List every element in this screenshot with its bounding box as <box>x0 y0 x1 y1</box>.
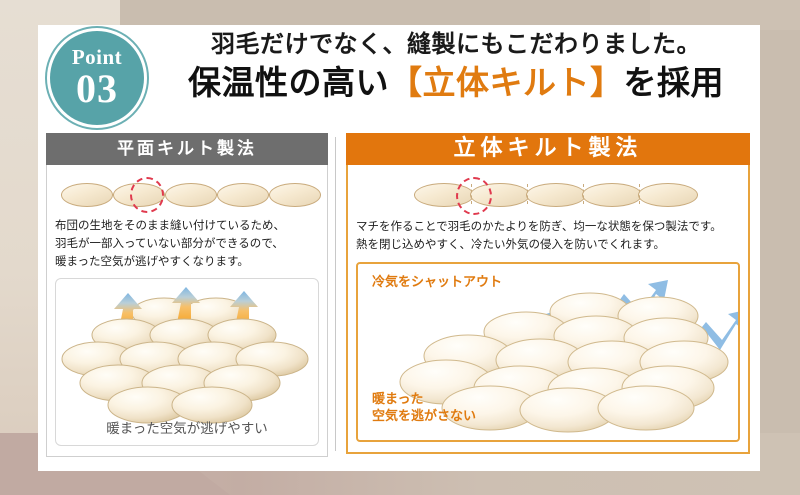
description-line: 熱を閉じ込めやすく、冷たい外気の侵入を防いでくれます。 <box>356 235 740 253</box>
panel-flat-quilt: 平面キルト製法 布団の生地をそのまま縫い付けているため、 羽毛が一部入っていない… <box>46 133 328 457</box>
cross-section-cell <box>61 183 113 207</box>
panel-3d-quilt-body: マチを作ることで羽毛のかたよりを防ぎ、均一な状態を保つ製法です。 熱を閉じ込めや… <box>346 165 750 454</box>
cross-section-cell <box>638 183 698 207</box>
label-warm-line-2: 空気を逃がさない <box>372 408 476 426</box>
panel-3d-quilt: 立体キルト製法 マチを作ることで羽毛のかたよりを防ぎ、均一な状態を保つ <box>346 133 750 457</box>
description-line: 羽毛が一部入っていない部分ができるので、 <box>55 235 319 253</box>
headline-subtitle: 羽毛だけでなく、縫製にもこだわりました。 <box>158 29 754 59</box>
panel-3d-quilt-title: 立体キルト製法 <box>346 133 750 165</box>
panel-flat-quilt-body: 布団の生地をそのまま縫い付けているため、 羽毛が一部入っていない部分ができるので… <box>46 165 328 457</box>
panel-divider <box>328 133 346 457</box>
panel-flat-quilt-description: 布団の生地をそのまま縫い付けているため、 羽毛が一部入っていない部分ができるので… <box>55 217 319 270</box>
cross-section-cell <box>165 183 217 207</box>
description-line: マチを作ることで羽毛のかたよりを防ぎ、均一な状態を保つ製法です。 <box>356 217 740 235</box>
point-badge-label: Point <box>72 47 122 68</box>
headline-title-before: 保温性の高い <box>188 63 389 102</box>
point-badge: Point 03 <box>50 31 144 125</box>
seam-highlight-circle <box>456 177 492 215</box>
seam-divider <box>583 184 584 204</box>
seam-divider <box>527 184 528 204</box>
3d-quilt-cross-section <box>356 177 740 211</box>
label-warm-retained: 暖まった 空気を逃がさない <box>372 391 476 426</box>
point-badge-number: 03 <box>76 69 118 109</box>
cross-section-cell <box>526 183 586 207</box>
label-cold-shutout: 冷気をシャットアウト <box>372 274 502 292</box>
seam-divider <box>639 184 640 204</box>
flat-quilt-caption: 暖まった空気が逃げやすい <box>56 417 318 437</box>
panel-3d-quilt-description: マチを作ることで羽毛のかたよりを防ぎ、均一な状態を保つ製法です。 熱を閉じ込めや… <box>356 217 740 254</box>
headline-group: 羽毛だけでなく、縫製にもこだわりました。 保温性の高い【立体キルト】を採用 <box>158 29 754 103</box>
label-warm-line-1: 暖まった <box>372 391 476 409</box>
headline-title: 保温性の高い【立体キルト】を採用 <box>158 62 754 103</box>
flat-quilt-cross-section <box>55 177 319 211</box>
content-card: Point 03 羽毛だけでなく、縫製にもこだわりました。 保温性の高い【立体キ… <box>38 25 760 471</box>
gap-highlight-circle <box>130 177 164 213</box>
cross-section-cell <box>217 183 269 207</box>
cross-section-cell <box>269 183 321 207</box>
header: Point 03 羽毛だけでなく、縫製にもこだわりました。 保温性の高い【立体キ… <box>38 25 760 133</box>
description-line: 暖まった空気が逃げやすくなります。 <box>55 253 319 271</box>
flat-quilt-diagram: 暖まった空気が逃げやすい <box>55 278 319 446</box>
comparison-panels: 平面キルト製法 布団の生地をそのまま縫い付けているため、 羽毛が一部入っていない… <box>38 133 760 457</box>
cross-section-cell <box>582 183 642 207</box>
headline-title-after: を採用 <box>624 63 725 102</box>
description-line: 布団の生地をそのまま縫い付けているため、 <box>55 217 319 235</box>
headline-title-highlight: 【立体キルト】 <box>389 63 624 102</box>
3d-quilt-diagram: 冷気をシャットアウト 暖まった 空気を逃がさない <box>356 262 740 442</box>
panel-flat-quilt-title: 平面キルト製法 <box>46 133 328 165</box>
